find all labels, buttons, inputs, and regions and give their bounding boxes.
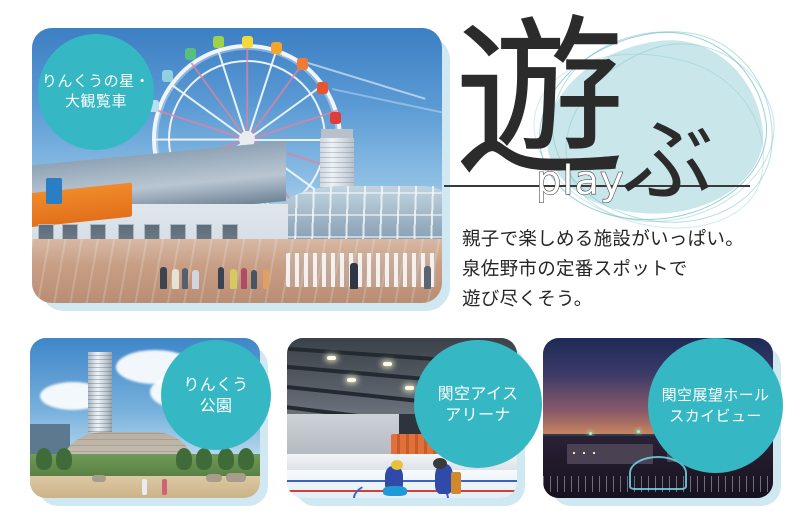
thumbnail-caption-line-2: スカイビュー <box>669 406 761 426</box>
ferris-wheel-cabin <box>330 112 341 124</box>
ferris-wheel-cabin <box>213 36 224 48</box>
mascot-character <box>383 486 407 496</box>
ferris-wheel-cabin <box>185 48 196 60</box>
thumbnail-caption-line-2: アリーナ <box>445 404 511 425</box>
lede-paragraph: 親子で楽しめる施設がいっぱい。 泉佐野市の定番スポットで 遊び尽くそう。 <box>462 225 800 315</box>
headline-block: 遊 ぶ play 親子で楽しめる施設がいっぱい。 泉佐野市の定番スポットで 遊び… <box>440 20 800 320</box>
hero-caption-line-2: 大観覧車 <box>65 92 127 112</box>
poster-canvas: りんくうの星・ 大観覧車 遊 ぶ play 親子で楽しめる施設がいっぱい。 泉佐… <box>0 0 800 515</box>
thumbnail-caption-line-2: 公園 <box>200 395 233 416</box>
lede-line-2: 泉佐野市の定番スポットで <box>462 255 800 285</box>
lede-line-3: 遊び尽くそう。 <box>462 285 800 315</box>
mascot-head <box>433 458 447 469</box>
ferris-wheel-cabin <box>297 58 308 70</box>
thumbnail-caption-line-1: 関空展望ホール <box>662 385 770 405</box>
outdoor-chairs <box>286 253 436 287</box>
ferris-wheel-cabin <box>242 36 253 48</box>
ferris-wheel-cabin <box>271 42 282 54</box>
shop-banner <box>46 178 62 204</box>
headline-romaji: play <box>536 161 625 201</box>
thumbnail-caption-line-1: りんくう <box>183 374 248 395</box>
hero-caption-line-1: りんくうの星・ <box>42 72 150 92</box>
lede-line-1: 親子で楽しめる施設がいっぱい。 <box>462 225 800 255</box>
ferris-wheel-cabin <box>162 70 173 82</box>
headline-kana: ぶ <box>622 116 714 208</box>
thumbnail-caption-badge-rinku-park[interactable]: りんくう 公園 <box>161 340 271 450</box>
hero-caption-badge[interactable]: りんくうの星・ 大観覧車 <box>38 34 154 150</box>
thumbnail-caption-badge-ice-arena[interactable]: 関空アイス アリーナ <box>414 340 542 468</box>
thumbnail-caption-line-1: 関空アイス <box>438 383 519 404</box>
mascot-head <box>391 460 403 470</box>
mascot-cape <box>451 472 461 494</box>
observation-deck-fence <box>543 476 773 492</box>
thumbnail-caption-badge-skyview[interactable]: 関空展望ホール スカイビュー <box>648 338 783 473</box>
ferris-wheel-cabin <box>317 82 328 94</box>
